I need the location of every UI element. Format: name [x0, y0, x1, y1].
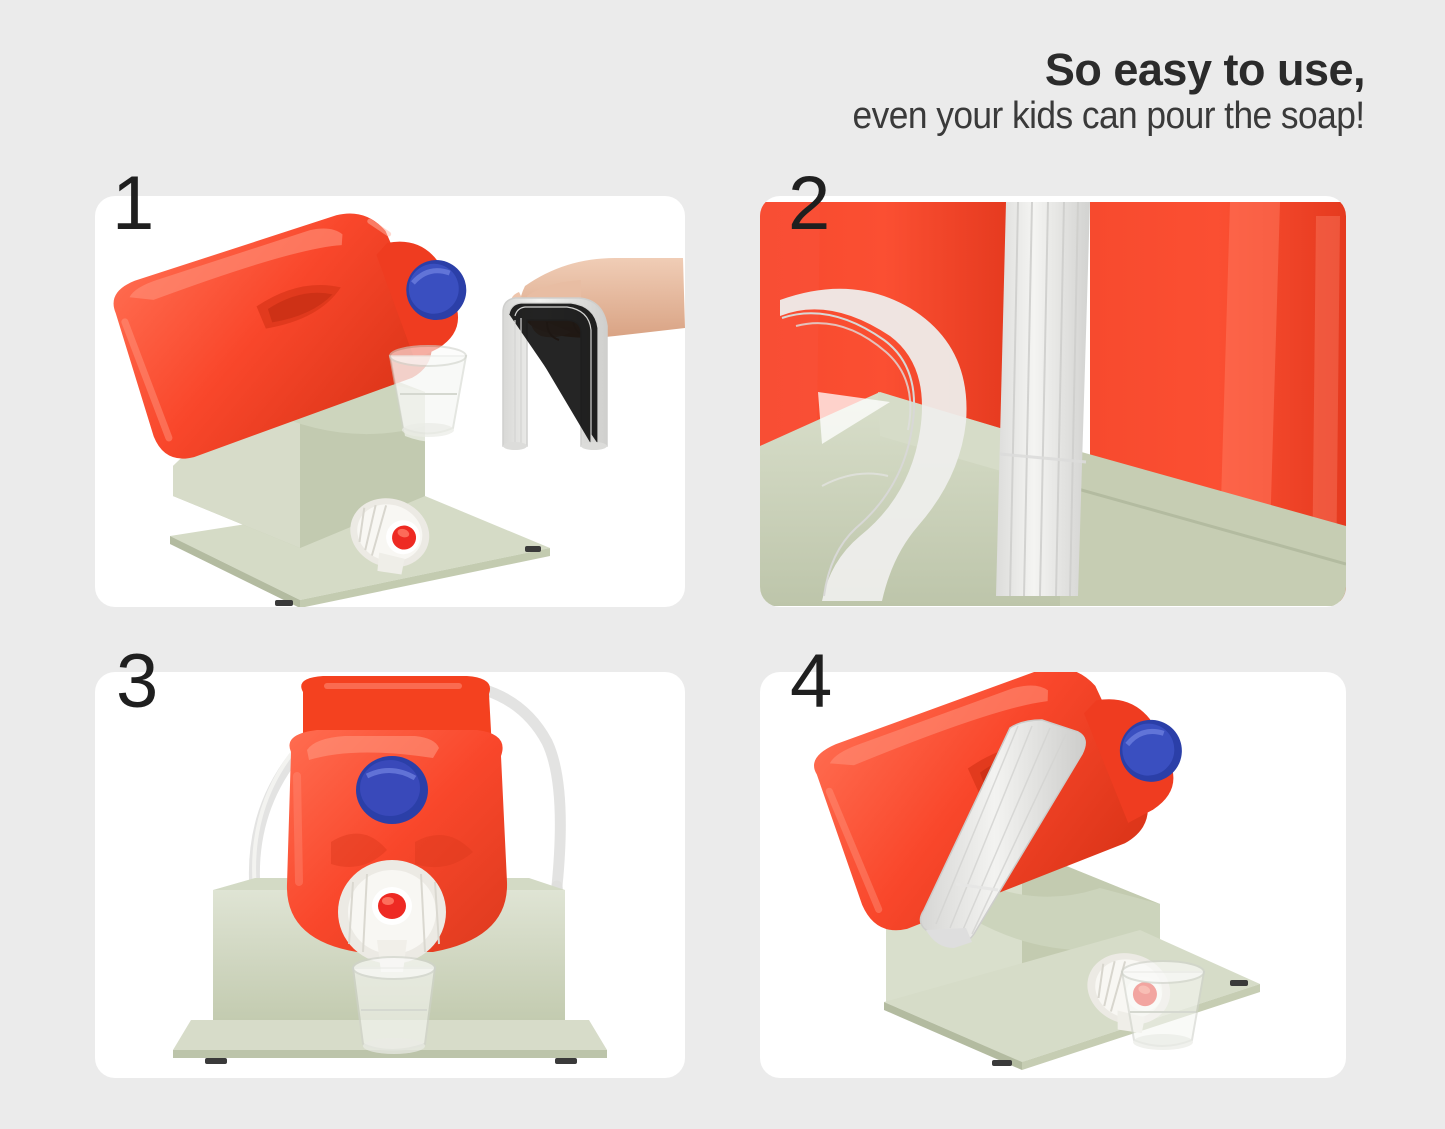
valve-icon: [378, 893, 406, 919]
step-number-4: 4: [790, 644, 832, 720]
strap-icon: [503, 298, 607, 450]
step-4-illustration: [760, 672, 1346, 1078]
step-panel-1: [95, 196, 685, 607]
step-panel-2: [760, 196, 1346, 607]
step-number-3: 3: [116, 644, 158, 720]
step-3-illustration: [95, 672, 685, 1078]
step-number-2: 2: [788, 166, 830, 242]
step-1-illustration: [95, 196, 685, 607]
step-panel-3: [95, 672, 685, 1078]
heading-block: So easy to use, even your kids can pour …: [814, 46, 1365, 137]
step-2-illustration: [760, 196, 1346, 607]
measuring-cup-icon: [1122, 961, 1204, 1050]
measuring-cup-icon: [390, 346, 480, 442]
step-panel-4: [760, 672, 1346, 1078]
measuring-cup-icon: [353, 957, 435, 1054]
headline-secondary: even your kids can pour the soap!: [853, 95, 1365, 138]
cap-icon: [356, 756, 428, 824]
headline-primary: So easy to use,: [814, 46, 1365, 95]
strap-icon: [996, 202, 1090, 596]
step-number-1: 1: [112, 166, 154, 242]
infographic-stage: So easy to use, even your kids can pour …: [0, 0, 1445, 1129]
